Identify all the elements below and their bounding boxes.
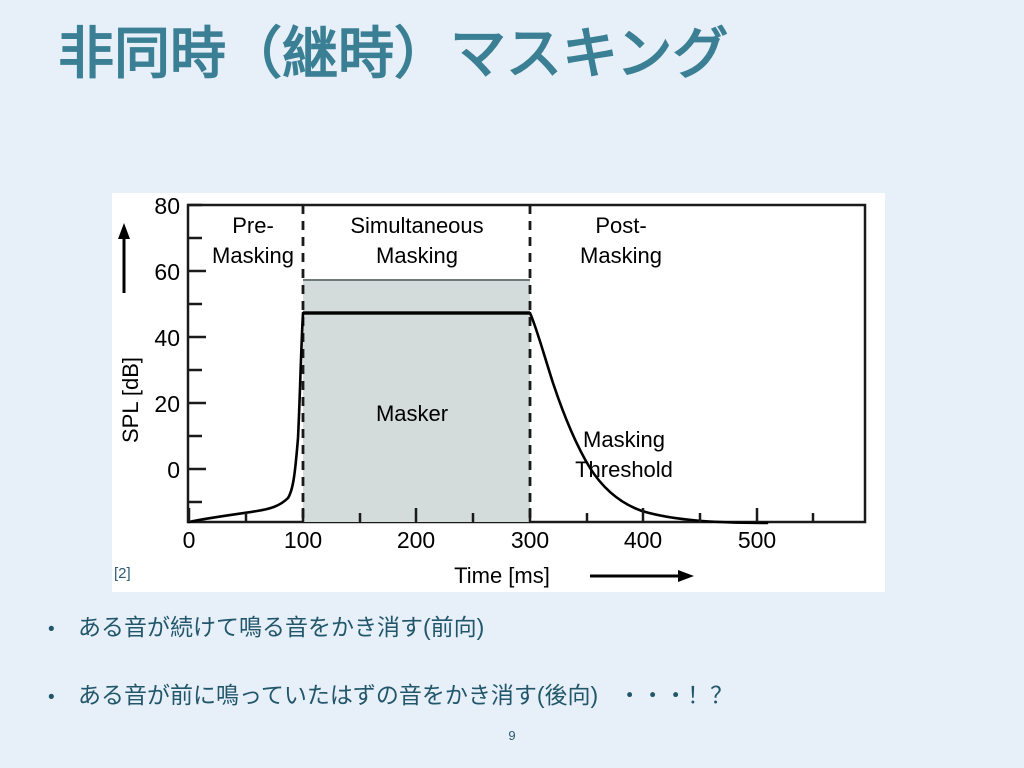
y-tick-label-80: 80	[154, 193, 180, 219]
y-tick-label-20: 20	[154, 391, 180, 417]
simultaneous-masking-line-1: Simultaneous	[350, 213, 483, 238]
bullet-item-2: • ある音が前に鳴っていたはずの音をかき消す(後向) ・・・！？	[48, 676, 733, 710]
x-tick-label-400: 400	[624, 527, 662, 553]
masking-threshold-annotation: Masking Threshold	[575, 427, 673, 482]
x-tick-label-300: 300	[511, 527, 549, 553]
x-tick-label-0: 0	[183, 527, 196, 553]
page-number: 9	[0, 728, 1024, 743]
masking-threshold-line-2: Threshold	[575, 457, 673, 482]
bullet-marker-icon: •	[48, 688, 78, 707]
y-tick-label-0: 0	[167, 457, 180, 483]
x-tick-label-500: 500	[738, 527, 776, 553]
pre-masking-line-2: Masking	[212, 243, 294, 268]
post-masking-line-1: Post-	[595, 213, 646, 238]
bullet-text-1: ある音が続けて鳴る音をかき消す(前向)	[78, 608, 484, 642]
pre-masking-line-1: Pre-	[232, 213, 274, 238]
x-tick-label-100: 100	[284, 527, 322, 553]
simultaneous-masking-line-2: Masking	[376, 243, 458, 268]
bullet-tail-2: ・・・！？	[618, 676, 733, 710]
post-masking-line-2: Masking	[580, 243, 662, 268]
y-tick-label-60: 60	[154, 259, 180, 285]
region-label-simultaneous-masking: Simultaneous Masking	[350, 213, 483, 268]
bullet-item-1: • ある音が続けて鳴る音をかき消す(前向)	[48, 608, 504, 642]
masking-threshold-line-1: Masking	[583, 427, 665, 452]
page-title: 非同時（継時）マスキング	[58, 22, 728, 86]
bullet-text-2: ある音が前に鳴っていたはずの音をかき消す(後向)	[78, 676, 598, 710]
region-label-post-masking: Post- Masking	[580, 213, 662, 268]
figure-panel: 80 60 40 20 0 SPL [dB] 0 100 20	[112, 193, 885, 592]
y-axis-ticks	[188, 205, 206, 502]
region-label-pre-masking: Pre- Masking	[212, 213, 294, 268]
x-axis-title: Time [ms]	[454, 563, 550, 588]
x-tick-label-200: 200	[397, 527, 435, 553]
x-axis-arrow-icon	[590, 570, 694, 582]
citation-reference: [2]	[114, 565, 131, 582]
masker-label: Masker	[376, 401, 448, 426]
y-axis-arrow-icon	[118, 223, 130, 293]
y-tick-label-40: 40	[154, 325, 180, 351]
bullet-marker-icon: •	[48, 620, 78, 639]
masking-chart: 80 60 40 20 0 SPL [dB] 0 100 20	[112, 193, 885, 592]
y-axis-title: SPL [dB]	[118, 357, 143, 443]
